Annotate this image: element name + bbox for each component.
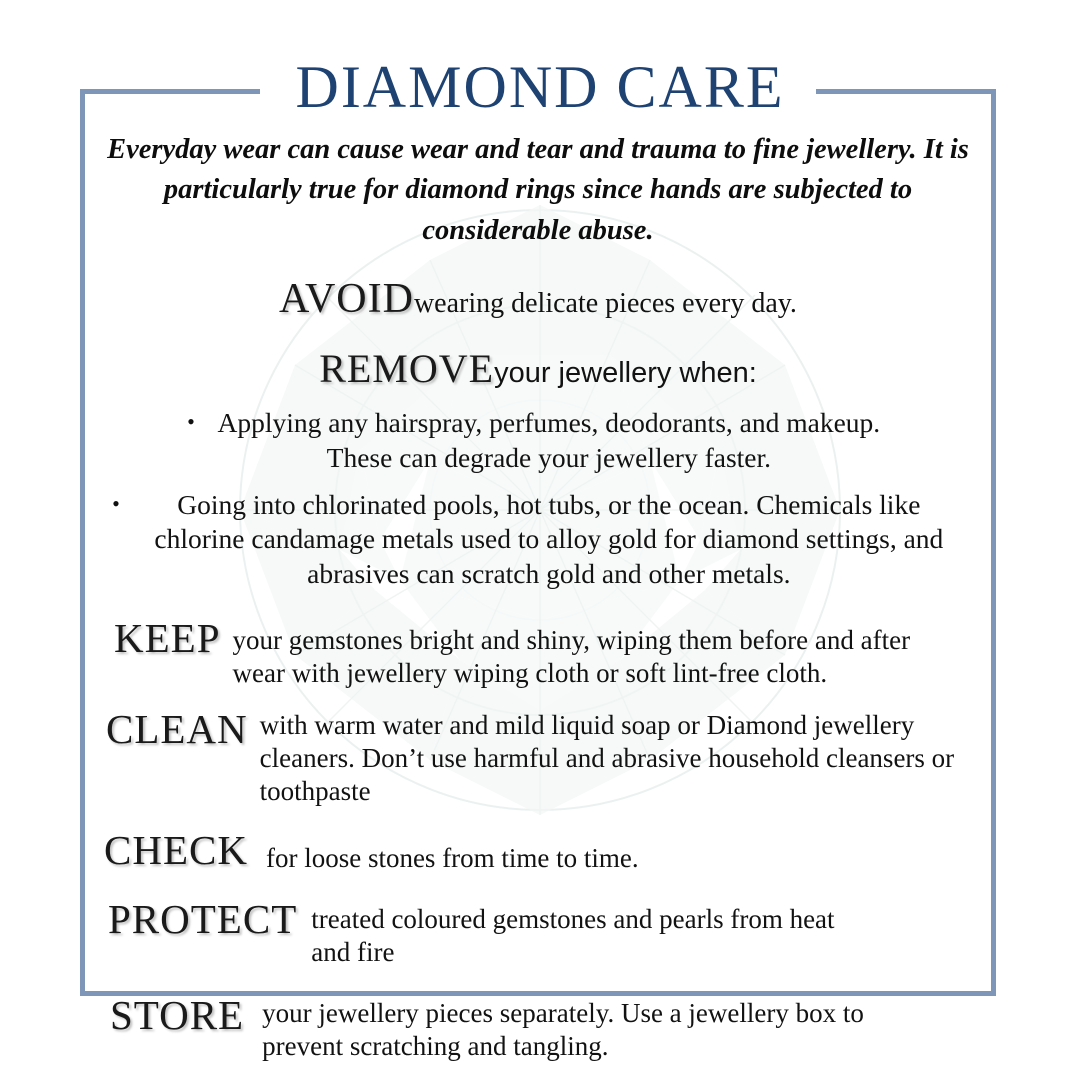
clean-body: with warm water and mild liquid soap or … xyxy=(248,709,984,808)
keyword-protect: PROTECT xyxy=(108,899,297,940)
bullet-dot-icon: • xyxy=(187,406,195,436)
section-store: STORE your jewellery pieces separately. … xyxy=(92,995,984,1063)
section-avoid: AVOIDwearing delicate pieces every day. xyxy=(92,275,984,323)
keep-body: your gemstones bright and shiny, wiping … xyxy=(221,618,963,690)
section-keep: KEEP your gemstones bright and shiny, wi… xyxy=(92,618,984,690)
keyword-check: CHECK xyxy=(104,830,248,871)
bullet-text: Going into chlorinated pools, hot tubs, … xyxy=(134,488,964,592)
list-item: • Going into chlorinated pools, hot tubs… xyxy=(92,488,984,592)
intro-paragraph: Everyday wear can cause wear and tear an… xyxy=(106,130,970,251)
keyword-keep: KEEP xyxy=(114,618,221,659)
bullet-text: Applying any hairspray, perfumes, deodor… xyxy=(209,406,889,475)
section-protect: PROTECT treated coloured gemstones and p… xyxy=(92,899,984,969)
keyword-avoid: AVOID xyxy=(279,276,414,322)
keyword-store: STORE xyxy=(110,995,244,1036)
keyword-clean: CLEAN xyxy=(106,709,248,750)
section-remove: REMOVEyour jewellery when: xyxy=(92,345,984,392)
content-area: Everyday wear can cause wear and tear an… xyxy=(92,130,984,1063)
remove-bullet-list: • Applying any hairspray, perfumes, deod… xyxy=(92,406,984,591)
check-body: for loose stones from time to time. xyxy=(248,830,639,875)
bullet-dot-icon: • xyxy=(112,488,120,518)
keyword-remove: REMOVE xyxy=(319,346,494,391)
section-clean: CLEAN with warm water and mild liquid so… xyxy=(92,709,984,808)
section-check: CHECK for loose stones from time to time… xyxy=(92,830,984,875)
protect-body: treated coloured gemstones and pearls fr… xyxy=(297,899,871,969)
store-body: your jewellery pieces separately. Use a … xyxy=(244,995,902,1063)
list-item: • Applying any hairspray, perfumes, deod… xyxy=(92,406,984,475)
avoid-body: wearing delicate pieces every day. xyxy=(414,288,797,319)
remove-body: your jewellery when: xyxy=(494,357,757,389)
page-title: DIAMOND CARE xyxy=(0,57,1080,117)
diamond-care-poster: DIAMOND CARE Everyday wear can cause wea… xyxy=(0,0,1080,1080)
